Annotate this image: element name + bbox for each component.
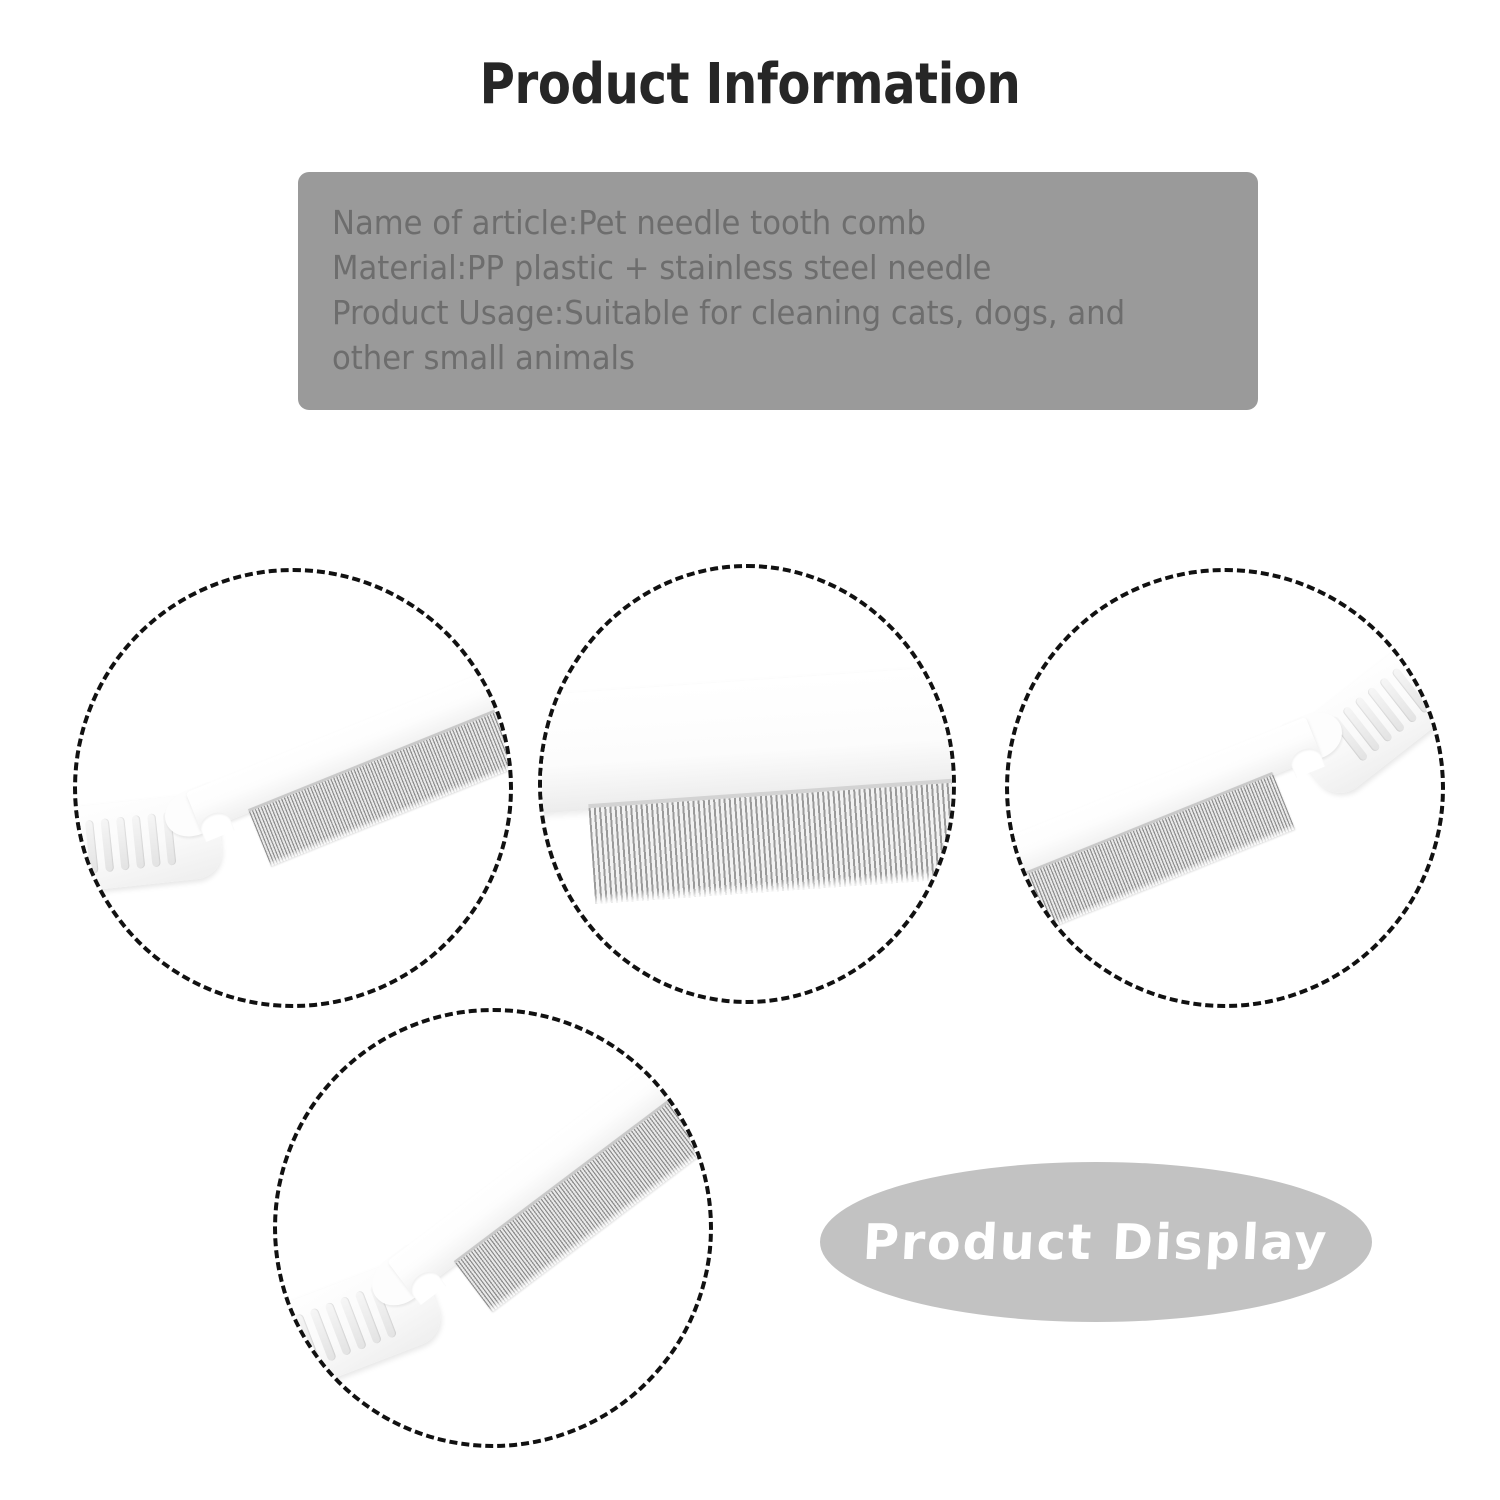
product-photo-1 xyxy=(73,568,513,1008)
product-photo-3 xyxy=(1005,568,1445,1008)
comb-illustration xyxy=(1005,634,1445,941)
product-photo-4 xyxy=(273,1008,713,1448)
info-line-name: Name of article:Pet needle tooth comb xyxy=(332,200,1162,245)
product-info-panel: Name of article:Pet needle tooth comb Ma… xyxy=(298,172,1258,410)
comb-macro-illustration xyxy=(538,595,956,993)
product-image-comb-steep xyxy=(277,1012,709,1444)
product-display-label: Product Display xyxy=(862,1214,1330,1271)
comb-illustration xyxy=(73,634,513,941)
info-line-material: Material:PP plastic + stainless steel ne… xyxy=(332,245,1162,290)
comb-grip-ridges xyxy=(1326,638,1445,768)
info-line-usage: Product Usage:Suitable for cleaning cats… xyxy=(332,290,1162,380)
page-title: Product Information xyxy=(105,52,1395,117)
product-image-comb-angled xyxy=(77,572,509,1004)
product-display-badge: Product Display xyxy=(820,1162,1372,1322)
product-photo-2 xyxy=(538,564,956,1004)
comb-handle xyxy=(1283,619,1445,805)
product-image-teeth-closeup xyxy=(542,568,952,1000)
comb-illustration xyxy=(273,1022,713,1433)
product-image-comb-mirrored xyxy=(1009,572,1441,1004)
